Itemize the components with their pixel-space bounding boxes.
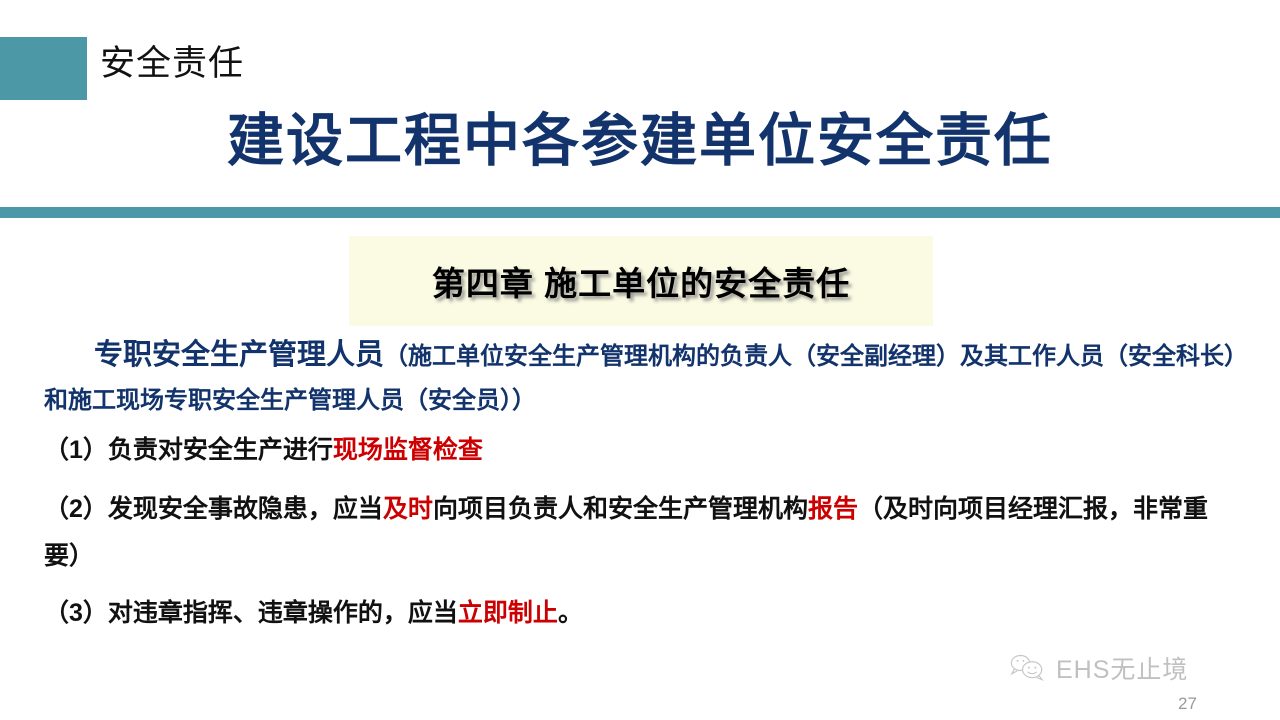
list-item-text: 负责对安全生产进行: [108, 436, 333, 464]
slide-kicker: 安全责任: [100, 40, 244, 88]
header-accent-square: [0, 37, 87, 100]
list-item-number: （2）: [44, 495, 108, 523]
list-item-text: 向项目负责人和安全生产管理机构: [433, 495, 808, 523]
watermark: EHS无止境: [1008, 650, 1188, 686]
list-item-text: 。: [558, 599, 583, 627]
list-item-text: 发现安全事故隐患，应当: [108, 495, 383, 523]
list-item-highlight: 报告: [808, 495, 858, 523]
lead-paragraph: 专职安全生产管理人员（施工单位安全生产管理机构的负责人（安全副经理）及其工作人员…: [44, 333, 1236, 423]
list-item-text: 对违章指挥、违章操作的，应当: [108, 599, 458, 627]
list-item-highlight: 立即制止: [458, 599, 558, 627]
list-item-highlight: 及时: [383, 495, 433, 523]
header-divider-bar: [0, 207, 1280, 218]
watermark-text: EHS无止境: [1056, 650, 1188, 686]
wechat-icon: [1008, 653, 1048, 683]
list-item: （2）发现安全事故隐患，应当及时向项目负责人和安全生产管理机构报告（及时向项目经…: [44, 486, 1236, 580]
body-content: 专职安全生产管理人员（施工单位安全生产管理机构的负责人（安全副经理）及其工作人员…: [44, 333, 1236, 637]
list-item: （3）对违章指挥、违章操作的，应当立即制止。: [44, 590, 1236, 637]
slide-canvas: 安全责任 建设工程中各参建单位安全责任 第四章 施工单位的安全责任 专职安全生产…: [0, 0, 1280, 720]
list-item-number: （1）: [44, 436, 108, 464]
chapter-title: 第四章 施工单位的安全责任: [432, 257, 850, 305]
chapter-banner: 第四章 施工单位的安全责任: [349, 236, 933, 326]
lead-emphasis: 专职安全生产管理人员: [94, 339, 384, 371]
list-item: （1）负责对安全生产进行现场监督检查: [44, 427, 1236, 474]
page-number: 27: [1178, 694, 1197, 714]
slide-main-title: 建设工程中各参建单位安全责任: [0, 107, 1280, 175]
list-item-number: （3）: [44, 599, 108, 627]
list-item-highlight: 现场监督检查: [333, 436, 483, 464]
